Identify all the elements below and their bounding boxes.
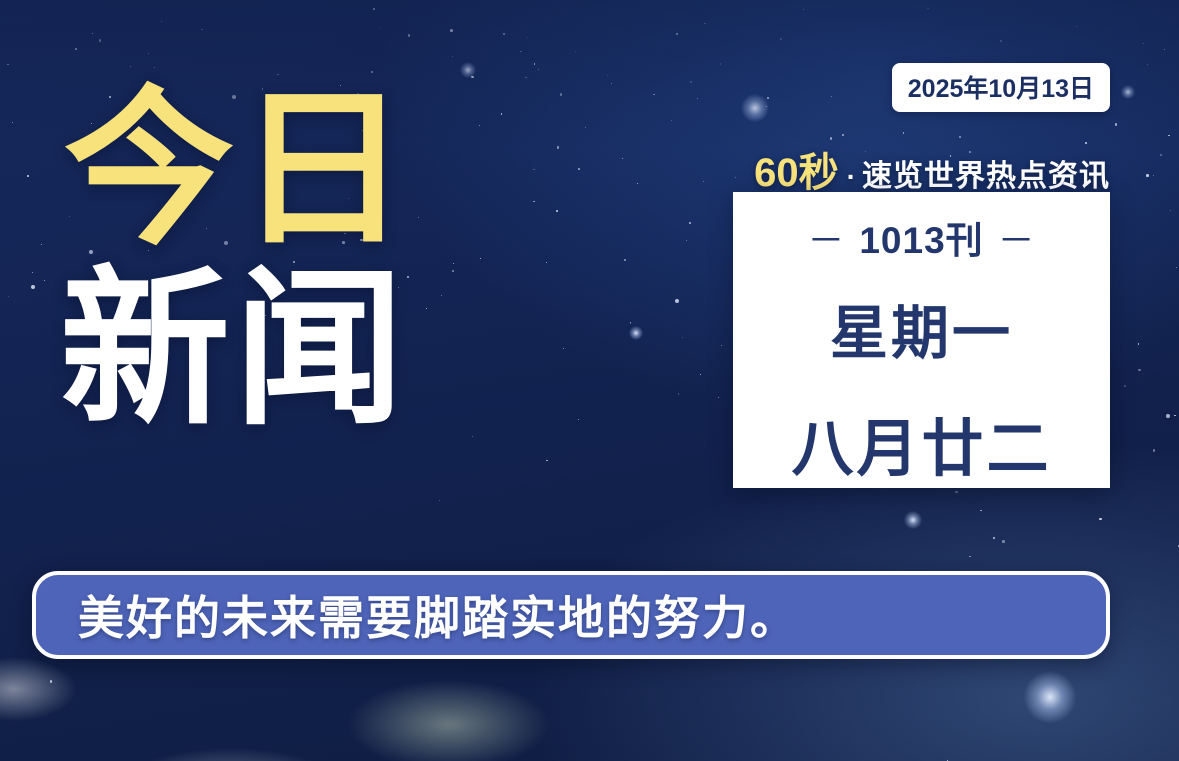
issue-number: 1013刊 bbox=[859, 220, 983, 261]
quote-bar: 美好的未来需要脚踏实地的努力。 bbox=[32, 571, 1110, 659]
tagline: 60秒 · 速览世界热点资讯 bbox=[754, 140, 1110, 198]
tagline-separator-icon: · bbox=[847, 161, 856, 193]
tagline-seconds: 60秒 bbox=[754, 140, 839, 198]
issue-card: －1013刊－ 星期一 八月廿二 bbox=[733, 192, 1110, 488]
date-badge: 2025年10月13日 bbox=[892, 63, 1110, 112]
quote-text: 美好的未来需要脚踏实地的努力。 bbox=[78, 582, 798, 648]
issue-line: －1013刊－ bbox=[793, 210, 1049, 264]
weekday-label: 星期一 bbox=[830, 286, 1013, 370]
page-title: 今日 新闻 bbox=[64, 92, 412, 429]
tagline-description: 速览世界热点资讯 bbox=[862, 151, 1110, 195]
title-line-news: 新闻 bbox=[60, 272, 412, 428]
issue-dash-right-icon: － bbox=[998, 220, 1036, 261]
news-poster: 今日 新闻 2025年10月13日 60秒 · 速览世界热点资讯 －1013刊－… bbox=[0, 0, 1179, 761]
lunar-date-label: 八月廿二 bbox=[791, 398, 1051, 488]
issue-dash-left-icon: － bbox=[807, 220, 845, 261]
title-line-today: 今日 bbox=[64, 92, 412, 248]
